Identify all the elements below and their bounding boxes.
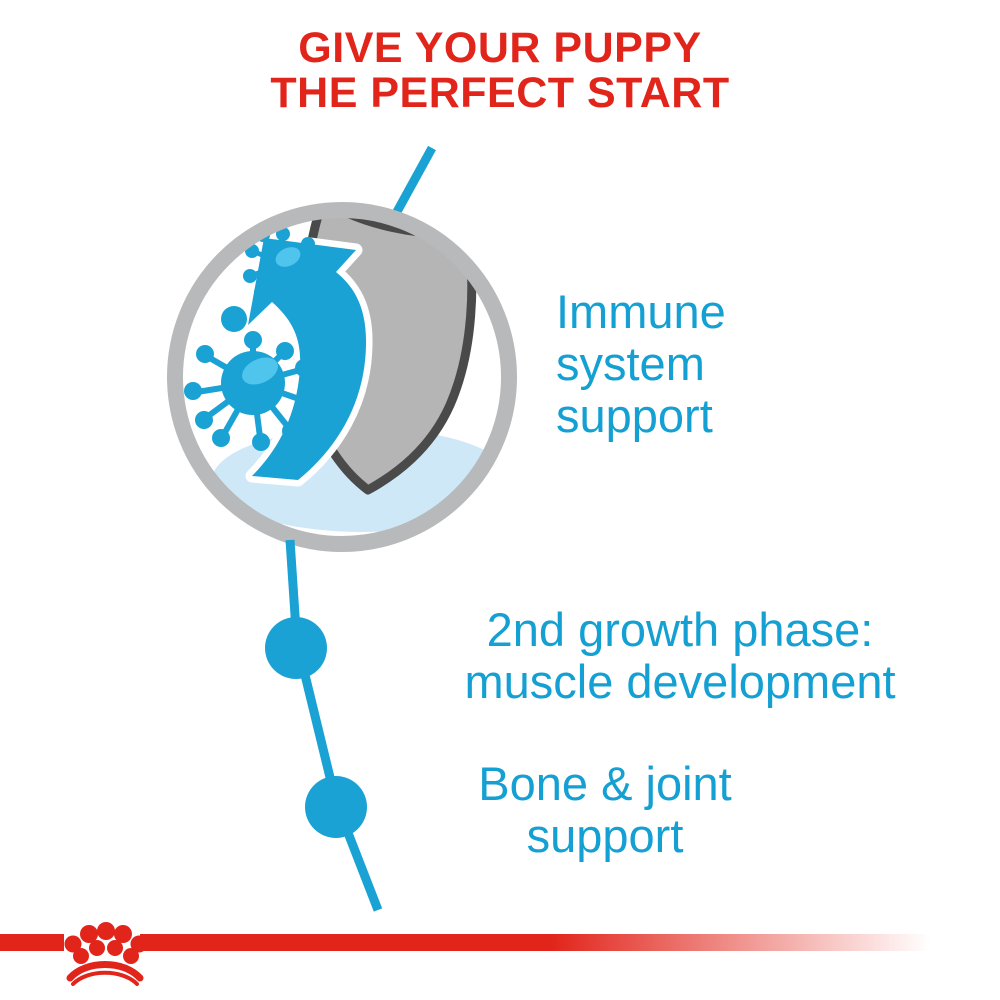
headline-line-2: THE PERFECT START xyxy=(0,71,1000,116)
benefit-label-bone-joint-support: Bone & joint support xyxy=(380,758,830,862)
virus-dot-icon xyxy=(221,306,247,332)
connector-node-1 xyxy=(265,617,327,679)
poster-root: GIVE YOUR PUPPY THE PERFECT START xyxy=(0,0,1000,1000)
connector-segment-1 xyxy=(290,540,296,630)
footer-bar-right xyxy=(140,934,930,951)
blue-connector xyxy=(230,520,450,940)
footer-bar-left xyxy=(0,934,64,951)
royal-canin-crown-logo xyxy=(60,900,150,990)
benefit-label-immune-system-support: Immune system support xyxy=(556,286,986,442)
page-title: GIVE YOUR PUPPY THE PERFECT START xyxy=(0,26,1000,116)
footer xyxy=(0,900,1000,1000)
connector-node-2 xyxy=(305,776,367,838)
benefit-label-second-growth-phase: 2nd growth phase: muscle development xyxy=(360,604,1000,708)
headline-line-1: GIVE YOUR PUPPY xyxy=(0,26,1000,71)
connector-stub-top xyxy=(393,148,432,219)
